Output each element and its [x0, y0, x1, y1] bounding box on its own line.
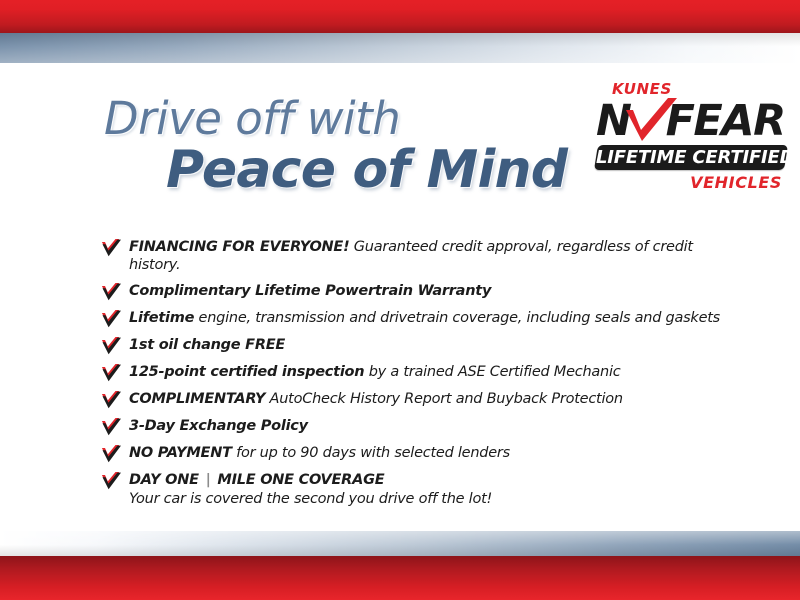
checkmark-bullet-icon	[101, 283, 122, 302]
checkmark-bullet-icon	[101, 310, 122, 329]
checkmark-bullet-icon	[101, 364, 122, 383]
logo-lifetime-certified-text: LIFETIME CERTIFIED	[596, 145, 786, 170]
top-silver-band-shading	[0, 33, 800, 63]
logo-word-fear: FEAR	[666, 96, 785, 146]
benefit-text: 125-point certified inspection by a trai…	[129, 363, 620, 381]
benefit-text: NO PAYMENT for up to 90 days with select…	[129, 444, 510, 462]
logo-no-fear-wordmark: NOFEAR	[596, 98, 786, 144]
benefit-text: DAY ONE | MILE ONE COVERAGEYour car is c…	[129, 471, 492, 509]
benefit-emphasis: Lifetime	[129, 310, 194, 326]
logo-suffix-vehicles: VEHICLES	[596, 175, 786, 191]
headline-block: Drive off with Peace of Mind	[104, 96, 574, 196]
benefit-detail: by a trained ASE Certified Mechanic	[364, 364, 620, 380]
benefit-subtext: Your car is covered the second you drive…	[129, 490, 492, 508]
top-red-band	[0, 0, 800, 33]
benefit-emphasis: DAY ONE	[129, 472, 199, 488]
benefit-item: Lifetime engine, transmission and drivet…	[101, 309, 741, 329]
checkmark-bullet-icon	[101, 337, 122, 356]
benefit-item: 1st oil change FREE	[101, 336, 741, 356]
benefit-emphasis: 3-Day Exchange Policy	[129, 418, 308, 434]
benefit-item: 125-point certified inspection by a trai…	[101, 363, 741, 383]
logo-lifetime-certified-bar: LIFETIME CERTIFIED	[594, 145, 788, 170]
benefit-text: 3-Day Exchange Policy	[129, 417, 308, 435]
benefit-detail: AutoCheck History Report and Buyback Pro…	[265, 391, 623, 407]
benefit-item: Complimentary Lifetime Powertrain Warran…	[101, 282, 741, 302]
benefit-emphasis: 125-point certified inspection	[129, 364, 364, 380]
headline-line-1: Drive off with	[104, 96, 574, 142]
benefit-emphasis: COMPLIMENTARY	[129, 391, 265, 407]
logo-no-fear-text: NOFEAR	[596, 98, 786, 144]
bottom-silver-band-shading	[0, 531, 800, 556]
bottom-red-band	[0, 556, 800, 600]
benefit-text: FINANCING FOR EVERYONE! Guaranteed credi…	[129, 238, 741, 275]
benefit-detail: for up to 90 days with selected lenders	[232, 445, 510, 461]
benefit-emphasis: 1st oil change FREE	[129, 337, 285, 353]
benefit-detail: engine, transmission and drivetrain cove…	[194, 310, 720, 326]
headline-line-2: Peace of Mind	[166, 144, 574, 196]
checkmark-bullet-icon	[101, 445, 122, 464]
benefit-emphasis: FINANCING FOR EVERYONE!	[129, 239, 349, 255]
benefit-separator: |	[199, 472, 218, 488]
checkmark-bullet-icon	[101, 391, 122, 410]
kunes-no-fear-logo: KUNES NOFEAR LIFETIME CERTIFIED VEHICLES	[596, 82, 786, 191]
benefit-emphasis: Complimentary Lifetime Powertrain Warran…	[129, 283, 491, 299]
benefit-text: COMPLIMENTARY AutoCheck History Report a…	[129, 390, 623, 408]
benefit-text: Lifetime engine, transmission and drivet…	[129, 309, 720, 327]
benefit-emphasis-secondary: MILE ONE COVERAGE	[217, 472, 384, 488]
benefit-item: DAY ONE | MILE ONE COVERAGEYour car is c…	[101, 471, 741, 509]
benefit-item: 3-Day Exchange Policy	[101, 417, 741, 437]
benefit-text: 1st oil change FREE	[129, 336, 285, 354]
logo-letter-n: N	[596, 96, 631, 146]
checkmark-bullet-icon	[101, 239, 122, 258]
benefit-item: FINANCING FOR EVERYONE! Guaranteed credi…	[101, 238, 741, 275]
benefit-item: COMPLIMENTARY AutoCheck History Report a…	[101, 390, 741, 410]
benefit-item: NO PAYMENT for up to 90 days with select…	[101, 444, 741, 464]
benefit-emphasis: NO PAYMENT	[129, 445, 232, 461]
checkmark-bullet-icon	[101, 472, 122, 491]
benefits-list: FINANCING FOR EVERYONE! Guaranteed credi…	[101, 238, 741, 515]
checkmark-bullet-icon	[101, 418, 122, 437]
promo-poster: Drive off with Peace of Mind KUNES NOFEA…	[0, 0, 800, 600]
benefit-text: Complimentary Lifetime Powertrain Warran…	[129, 282, 491, 300]
logo-brand-kunes: KUNES	[596, 82, 786, 97]
